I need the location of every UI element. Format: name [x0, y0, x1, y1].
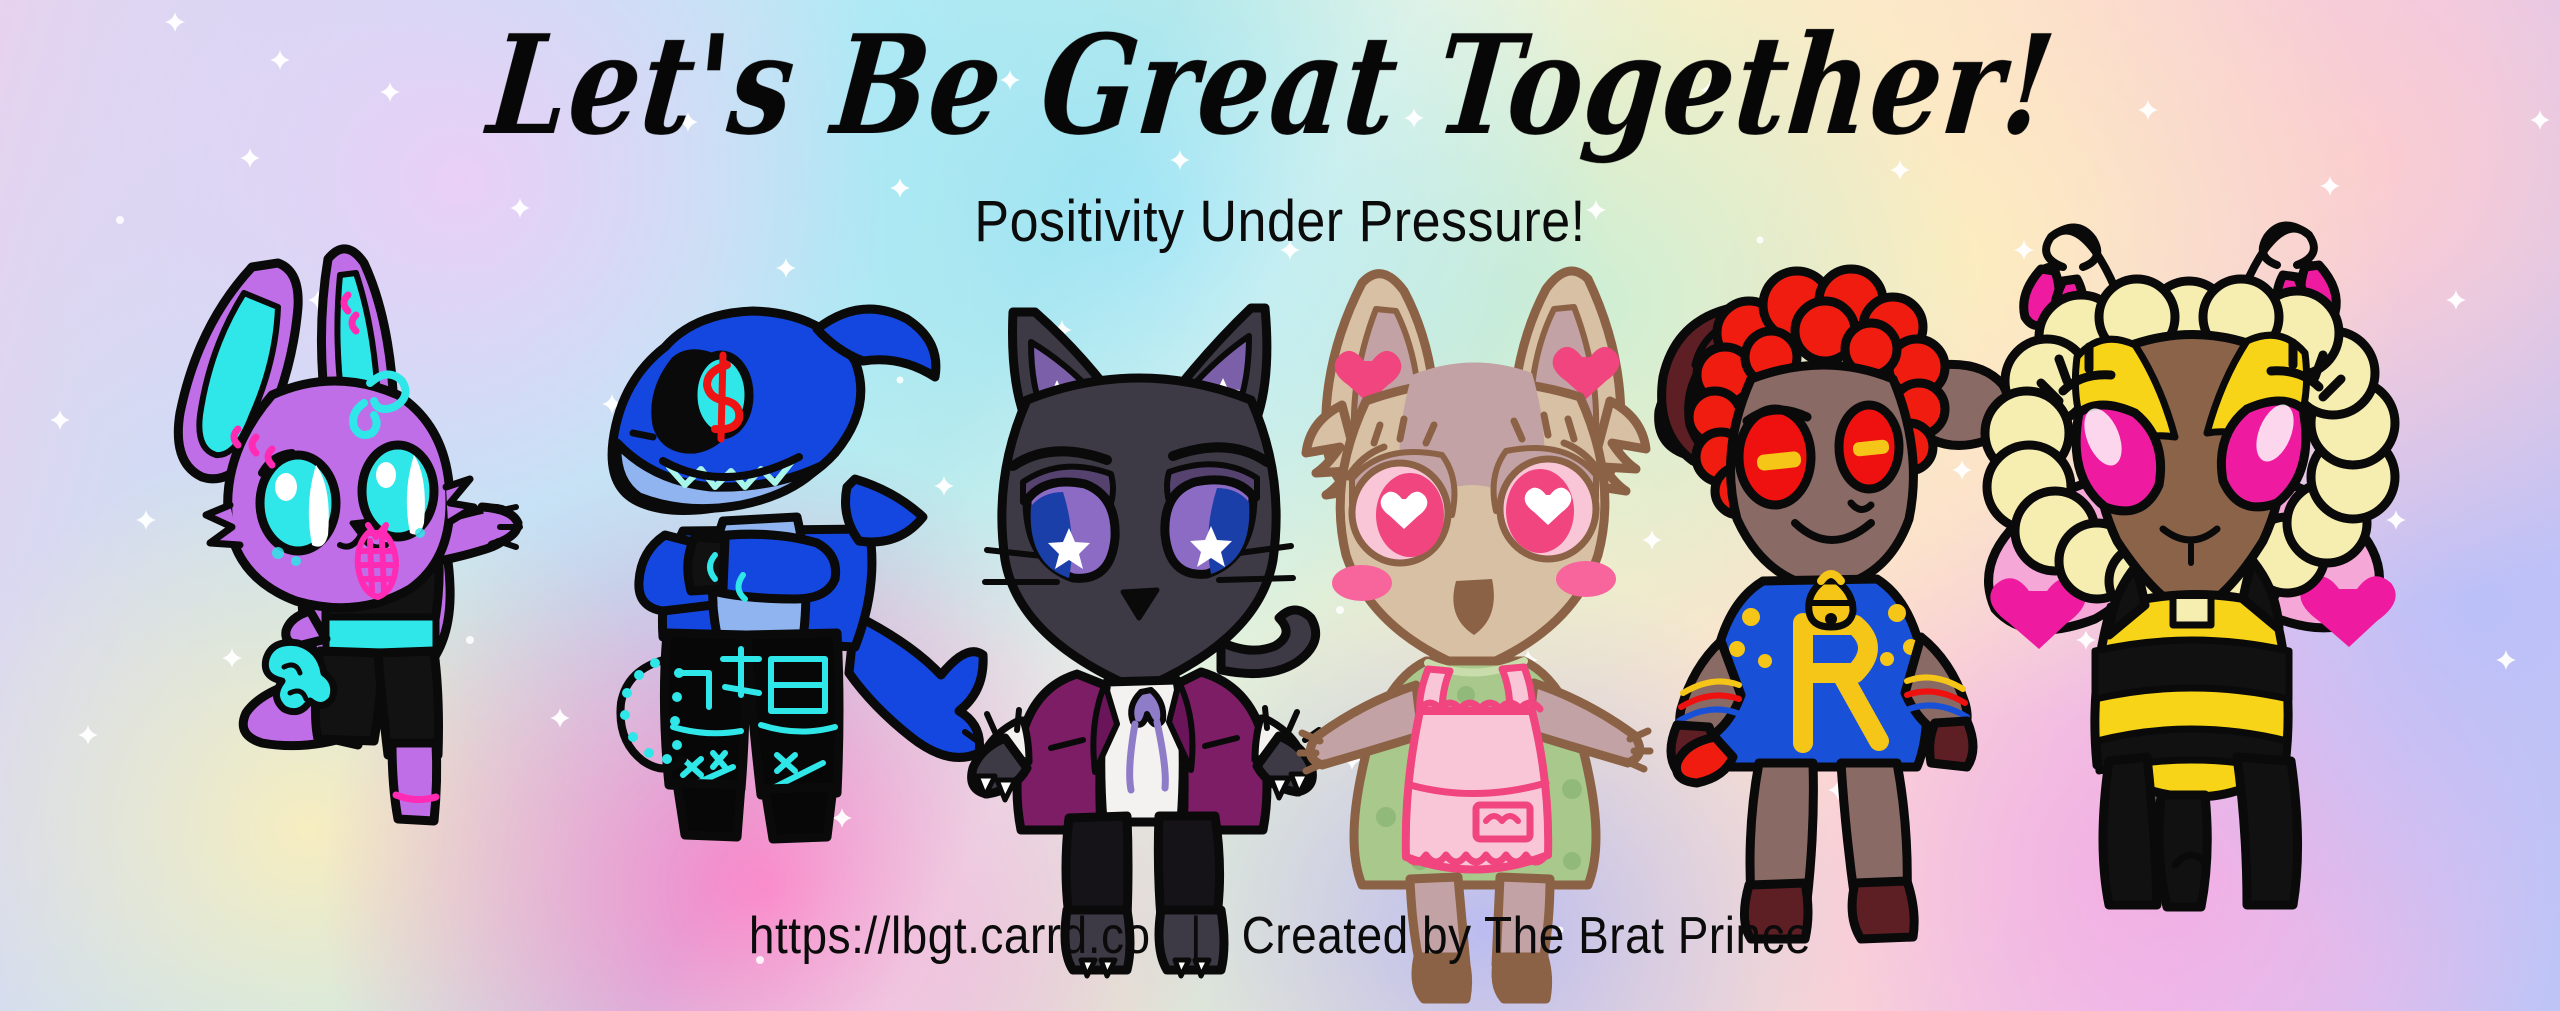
character-bee: [1985, 205, 2405, 845]
page-title: Let's Be Great Together!: [0, 6, 2560, 166]
character-cat: [965, 270, 1335, 850]
creator-credit: Created by The Brat Prince: [1242, 906, 1812, 964]
character-shark: [555, 255, 985, 855]
footer-separator: |: [1164, 905, 1228, 965]
character-deer: [1300, 265, 1670, 855]
website-url[interactable]: https://lbgt.carrd.co: [749, 906, 1151, 964]
character-bunny: [120, 215, 520, 835]
character-ram: [1655, 275, 2025, 855]
banner-artwork: Let's Be Great Together! Positivity Unde…: [0, 0, 2560, 1011]
footer-credits: https://lbgt.carrd.co | Created by The B…: [0, 905, 2560, 965]
